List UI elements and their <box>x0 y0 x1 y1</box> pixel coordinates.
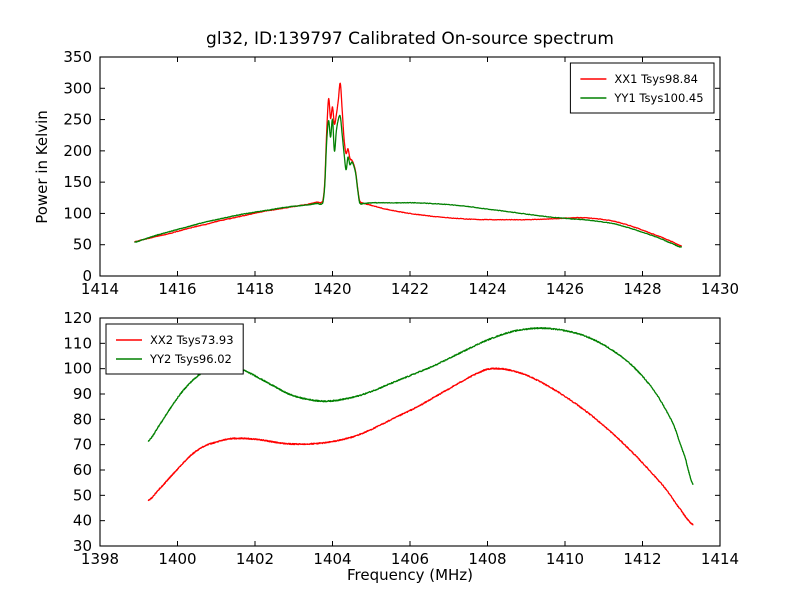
x-tick-label: 1428 <box>623 280 661 298</box>
y-tick-label: 250 <box>63 111 92 129</box>
y-tick-label: 50 <box>73 236 92 254</box>
x-tick-label: 1414 <box>701 550 739 568</box>
bottom-panel-legend[interactable]: XX2 Tsys73.93YY2 Tsys96.02 <box>106 324 243 374</box>
bottom-panel-xlabel: Frequency (MHz) <box>347 566 473 584</box>
y-tick-label: 70 <box>73 436 92 454</box>
y-tick-label: 0 <box>82 267 92 285</box>
x-tick-label: 1404 <box>313 550 351 568</box>
legend-entry-label[interactable]: XX2 Tsys73.93 <box>150 333 234 347</box>
legend-entry-label[interactable]: YY2 Tsys96.02 <box>149 352 232 366</box>
x-tick-label: 1416 <box>158 280 196 298</box>
y-tick-label: 50 <box>73 486 92 504</box>
x-tick-label: 1410 <box>546 550 584 568</box>
top-panel-legend[interactable]: XX1 Tsys98.84YY1 Tsys100.45 <box>570 63 714 113</box>
x-tick-label: 1426 <box>546 280 584 298</box>
x-tick-label: 1412 <box>623 550 661 568</box>
y-tick-label: 90 <box>73 385 92 403</box>
legend-entry-label[interactable]: XX1 Tsys98.84 <box>614 72 698 86</box>
y-tick-label: 60 <box>73 461 92 479</box>
x-tick-label: 1408 <box>468 550 506 568</box>
y-tick-label: 110 <box>63 334 92 352</box>
y-tick-label: 80 <box>73 410 92 428</box>
legend-background <box>570 63 714 113</box>
y-tick-label: 40 <box>73 512 92 530</box>
y-tick-label: 100 <box>63 360 92 378</box>
top-panel-ylabel: Power in Kelvin <box>33 110 51 224</box>
x-tick-label: 1424 <box>468 280 506 298</box>
y-tick-label: 120 <box>63 309 92 327</box>
x-tick-label: 1418 <box>236 280 274 298</box>
plot-canvas: gl32, ID:139797 Calibrated On-source spe… <box>0 0 800 600</box>
y-tick-label: 150 <box>63 173 92 191</box>
figure-title: gl32, ID:139797 Calibrated On-source spe… <box>206 29 614 49</box>
legend-background <box>106 324 243 374</box>
y-tick-label: 30 <box>73 537 92 555</box>
y-tick-label: 100 <box>63 204 92 222</box>
y-tick-label: 350 <box>63 48 92 66</box>
legend-entry-label[interactable]: YY1 Tsys100.45 <box>613 91 703 105</box>
x-tick-label: 1420 <box>313 280 351 298</box>
x-tick-label: 1422 <box>391 280 429 298</box>
x-tick-label: 1400 <box>158 550 196 568</box>
y-tick-label: 300 <box>63 79 92 97</box>
spectrum-figure: gl32, ID:139797 Calibrated On-source spe… <box>0 0 800 600</box>
x-tick-label: 1402 <box>236 550 274 568</box>
x-tick-label: 1430 <box>701 280 739 298</box>
y-tick-label: 200 <box>63 142 92 160</box>
